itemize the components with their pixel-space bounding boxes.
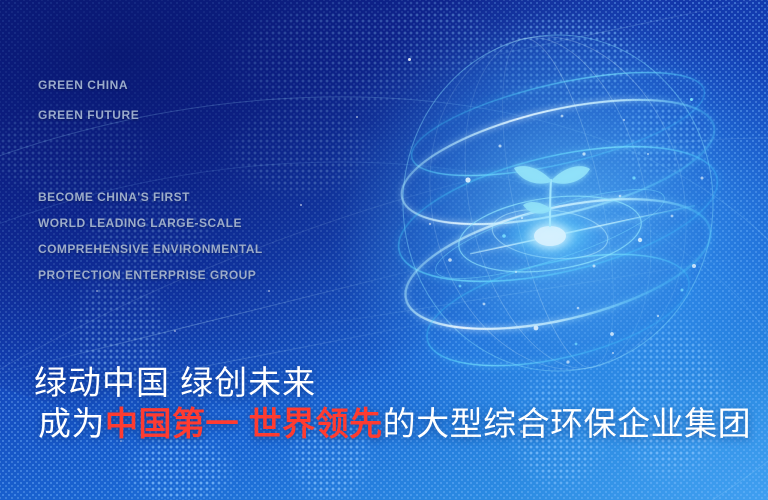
globe-core-orbits <box>428 172 672 296</box>
sparkle-dot <box>356 116 358 118</box>
mission-line-2: WORLD LEADING LARGE-SCALE <box>38 210 263 236</box>
light-streak-diagonal-3 <box>434 0 768 68</box>
english-tagline: GREEN CHINA GREEN FUTURE <box>38 70 139 130</box>
globe-particles-cyan <box>459 176 684 345</box>
tagline-line-2: GREEN FUTURE <box>38 100 139 130</box>
globe-svg <box>372 28 744 378</box>
sparkle-dot <box>174 330 176 332</box>
english-mission: BECOME CHINA'S FIRST WORLD LEADING LARGE… <box>38 184 263 288</box>
sparkle-dot <box>408 58 411 61</box>
globe-meridians <box>400 28 716 378</box>
chinese-headline: 绿动中国 绿创未来 成为中国第一 世界领先的大型综合环保企业集团 <box>34 364 751 444</box>
sparkle-dot <box>612 352 614 354</box>
green-china-banner: GREEN CHINA GREEN FUTURE BECOME CHINA'S … <box>0 0 768 500</box>
wireframe-globe <box>372 28 744 378</box>
globe-core-burst <box>498 206 602 266</box>
sprout-icon <box>514 166 590 226</box>
sparkle-dot <box>96 290 98 292</box>
sparkle-dot <box>690 98 693 101</box>
headline-line-1: 绿动中国 绿创未来 <box>34 364 751 402</box>
globe-core-streak <box>470 205 695 254</box>
globe-particles <box>429 115 704 364</box>
sparkle-dot <box>268 290 270 292</box>
mission-line-3: COMPREHENSIVE ENVIRONMENTAL <box>38 236 263 262</box>
headline-highlight: 中国第一 世界领先 <box>105 405 383 442</box>
mission-line-4: PROTECTION ENTERPRISE GROUP <box>38 262 263 288</box>
headline-suffix: 的大型综合环保企业集团 <box>383 405 752 442</box>
globe-sphere-body <box>403 35 713 371</box>
headline-prefix: 成为 <box>38 405 105 442</box>
sparkle-dot <box>300 204 302 206</box>
tagline-line-1: GREEN CHINA <box>38 70 139 100</box>
mission-line-1: BECOME CHINA'S FIRST <box>38 184 263 210</box>
headline-line-2: 成为中国第一 世界领先的大型综合环保企业集团 <box>34 404 751 444</box>
globe-latitude-rings <box>386 51 730 378</box>
light-streak-diagonal-4 <box>303 253 767 328</box>
